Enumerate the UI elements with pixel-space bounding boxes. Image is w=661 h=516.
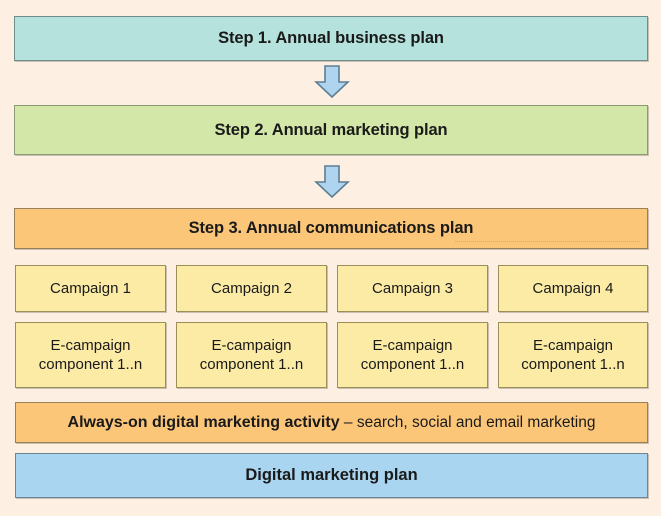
e-campaign-component-1-label: E-campaign component 1..n	[16, 336, 165, 374]
e-campaign-component-3-box: E-campaign component 1..n	[337, 322, 488, 388]
campaign-1-label: Campaign 1	[50, 279, 131, 298]
digital-marketing-plan-box: Digital marketing plan	[15, 453, 648, 498]
e-campaign-component-2-box: E-campaign component 1..n	[176, 322, 327, 388]
step-1-annual-business-plan-box: Step 1. Annual business plan	[14, 16, 648, 61]
step-3-label: Step 3. Annual communications plan	[189, 219, 474, 238]
e-campaign-component-2-label: E-campaign component 1..n	[177, 336, 326, 374]
campaign-3-box: Campaign 3	[337, 265, 488, 312]
digital-marketing-plan-label: Digital marketing plan	[245, 466, 417, 485]
e-campaign-component-4-box: E-campaign component 1..n	[498, 322, 648, 388]
dotted-line-artifact	[455, 241, 640, 243]
e-campaign-component-3-label: E-campaign component 1..n	[338, 336, 487, 374]
marketing-planning-diagram: Step 1. Annual business plan Step 2. Ann…	[0, 0, 661, 516]
arrow-down-icon-step1-step2	[314, 65, 350, 98]
always-on-bold-label: Always-on digital marketing activity	[68, 414, 340, 431]
step-1-label: Step 1. Annual business plan	[218, 29, 444, 48]
step-2-label: Step 2. Annual marketing plan	[214, 121, 447, 140]
campaign-2-label: Campaign 2	[211, 279, 292, 298]
campaign-4-box: Campaign 4	[498, 265, 648, 312]
e-campaign-component-1-box: E-campaign component 1..n	[15, 322, 166, 388]
campaign-3-label: Campaign 3	[372, 279, 453, 298]
campaign-1-box: Campaign 1	[15, 265, 166, 312]
arrow-down-icon-step2-step3	[314, 165, 350, 198]
e-campaign-component-4-label: E-campaign component 1..n	[499, 336, 647, 374]
always-on-wrapper: Always-on digital marketing activity – s…	[68, 414, 596, 432]
always-on-rest-label: – search, social and email marketing	[340, 414, 596, 431]
always-on-digital-marketing-activity-box: Always-on digital marketing activity – s…	[15, 402, 648, 443]
step-2-annual-marketing-plan-box: Step 2. Annual marketing plan	[14, 105, 648, 155]
campaign-4-label: Campaign 4	[533, 279, 614, 298]
campaign-2-box: Campaign 2	[176, 265, 327, 312]
